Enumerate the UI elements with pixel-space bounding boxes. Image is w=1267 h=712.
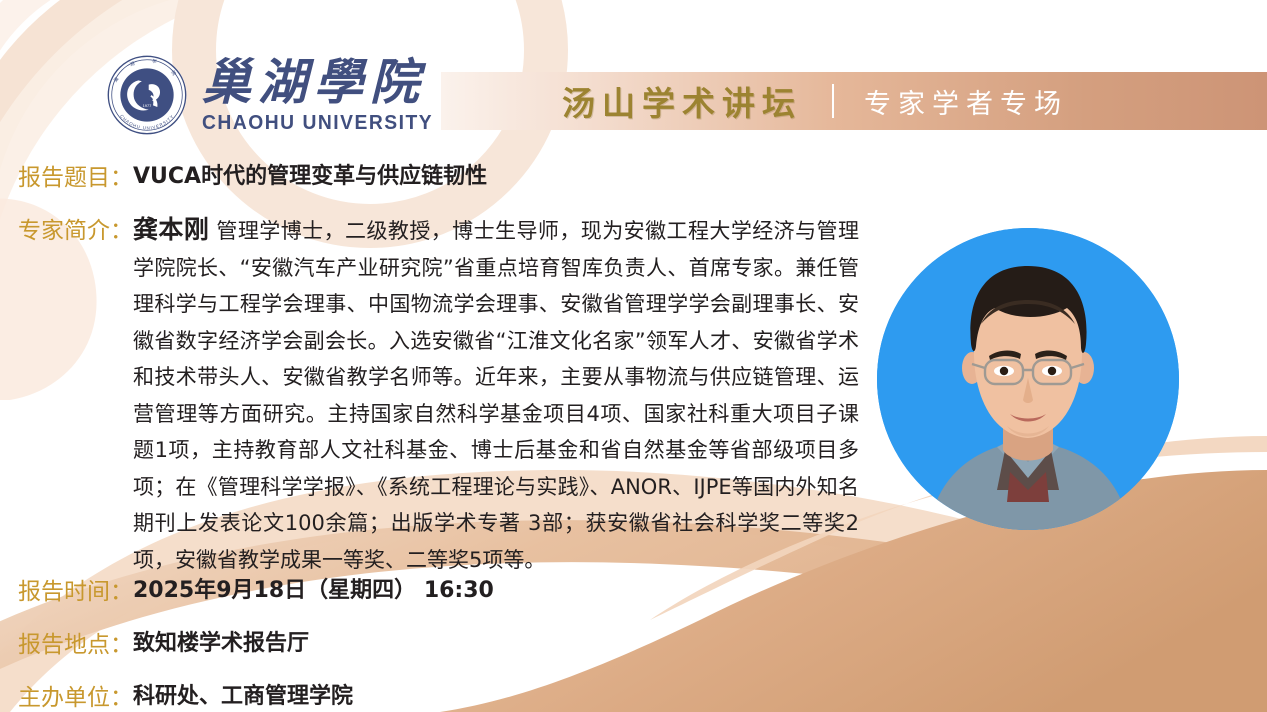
topic-value: VUCA时代的管理变革与供应链韧性 (133, 158, 487, 190)
host-row: 主办单位： 科研处、工商管理学院 (18, 678, 353, 712)
host-value: 科研处、工商管理学院 (133, 678, 353, 710)
bio-label: 专家简介： (18, 212, 133, 250)
place-label: 报告地点： (18, 625, 133, 659)
speaker-portrait-image (877, 228, 1179, 530)
time-label: 报告时间： (18, 572, 133, 606)
speaker-name: 龚本刚 (133, 215, 209, 244)
place-row: 报告地点： 致知楼学术报告厅 (18, 625, 309, 659)
topic-label: 报告题目： (18, 158, 133, 192)
bio-body: 龚本刚 管理学博士，二级教授，博士生导师，现为安徽工程大学经济与管理学院院长、“… (133, 212, 859, 578)
lecture-poster: 1977 CHAOHU UNIVERSITY 巢 湖 学 院 巢湖學院 CHAO… (0, 0, 1267, 712)
time-value: 2025年9月18日（星期四） 16:30 (133, 572, 494, 604)
speaker-portrait (877, 228, 1179, 530)
topic-row: 报告题目： VUCA时代的管理变革与供应链韧性 (18, 158, 487, 192)
time-row: 报告时间： 2025年9月18日（星期四） 16:30 (18, 572, 494, 606)
bio-row: 专家简介： 龚本刚 管理学博士，二级教授，博士生导师，现为安徽工程大学经济与管理… (18, 212, 878, 578)
host-label: 主办单位： (18, 678, 133, 712)
bio-text: 管理学博士，二级教授，博士生导师，现为安徽工程大学经济与管理学院院长、“安徽汽车… (133, 219, 859, 572)
place-value: 致知楼学术报告厅 (133, 625, 309, 657)
